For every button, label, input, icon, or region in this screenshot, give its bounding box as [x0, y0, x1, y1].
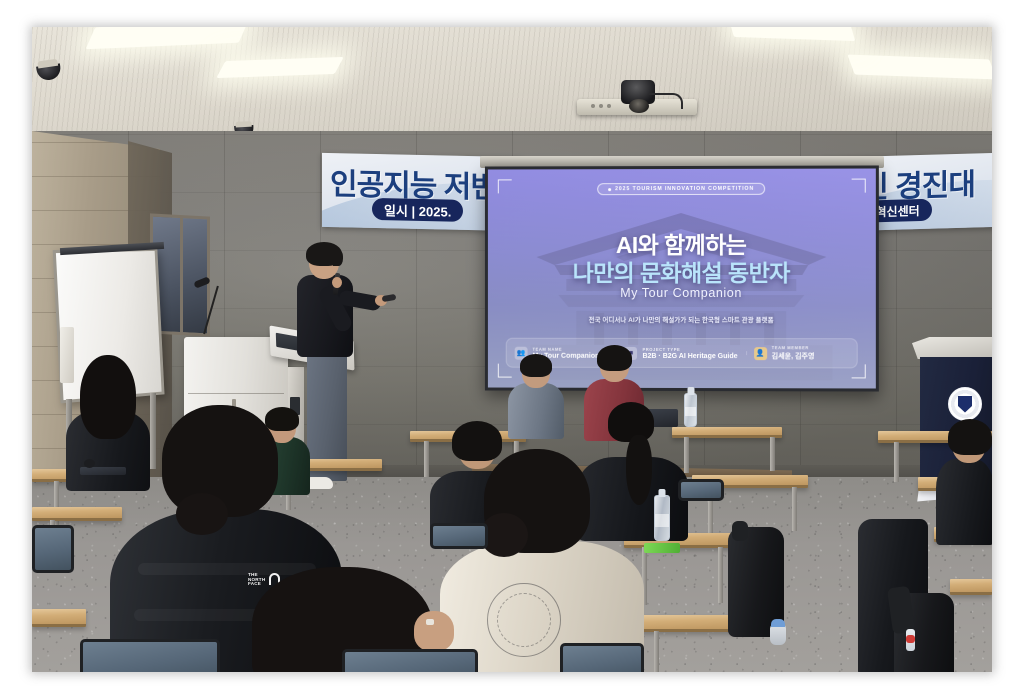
card-value: B2B · B2G AI Heritage Guide — [643, 352, 738, 359]
card-label: TEAM MEMBER — [772, 345, 815, 350]
presenter-hair — [306, 242, 342, 266]
podium-seam — [188, 393, 284, 394]
card-label: PROJECT TYPE — [643, 346, 738, 351]
desk — [32, 507, 122, 521]
badge-dot-icon — [608, 188, 611, 191]
bottle-charm-label — [906, 635, 915, 643]
ceiling-projector — [577, 79, 697, 115]
green-snack-pack — [644, 543, 680, 553]
chair[interactable] — [80, 639, 220, 672]
emblem-shield — [958, 396, 972, 413]
chair[interactable] — [32, 525, 74, 573]
podium-microphone — [192, 273, 236, 333]
attendee-hair — [452, 421, 502, 461]
projector-led — [599, 104, 603, 108]
desk — [950, 579, 992, 595]
computer-mouse[interactable] — [84, 459, 95, 468]
slide-card-team-member: 👤 TEAM MEMBER 김세윤, 김주영 — [746, 345, 857, 361]
presentation-slide: 2025 TOURISM INNOVATION COMPETITION AI와 … — [488, 169, 876, 389]
banner-left-date: 일시 | 2025. — [372, 198, 463, 222]
member-icon: 👤 — [754, 347, 767, 360]
projector-lens — [629, 99, 649, 113]
water-bottle — [654, 495, 670, 541]
projector-cable — [649, 93, 683, 109]
projector-led — [591, 104, 595, 108]
coat-print-graphic — [487, 583, 561, 657]
slide-tagline: 전국 어디서나 AI가 나만의 해설가가 되는 한국형 스마트 관광 플랫폼 — [488, 315, 876, 324]
backpack-handle — [732, 521, 748, 541]
desk-leg — [770, 437, 775, 471]
projector-led — [607, 104, 611, 108]
attendee-hair — [520, 354, 552, 377]
slide-corner-bracket — [852, 179, 866, 193]
ceiling — [32, 27, 992, 145]
hair-bun — [176, 493, 228, 535]
attendee-far-right — [936, 423, 992, 543]
attendee-hair — [608, 402, 654, 442]
chair[interactable] — [560, 643, 644, 672]
slide-corner-bracket — [498, 179, 512, 193]
desk-leg — [718, 547, 723, 603]
university-emblem-icon — [948, 387, 982, 421]
chair[interactable] — [678, 479, 724, 501]
photograph: 인공지능 저변 일시 | 2025. 디자인 경진대 학교 부산AI혁신센터 — [32, 27, 992, 672]
microphone-head — [193, 276, 210, 288]
chair[interactable] — [430, 523, 488, 549]
slide-title-line-2: 나만의 문화해설 동반자 — [488, 254, 876, 288]
photo-frame: 인공지능 저변 일시 | 2025. 디자인 경진대 학교 부산AI혁신센터 — [0, 0, 1024, 699]
podium-top-surface — [912, 337, 992, 359]
attendee-hair — [597, 345, 632, 371]
desk — [32, 609, 86, 627]
attendee-hand — [414, 611, 454, 651]
plush-charm-hat — [771, 619, 785, 627]
microphone-stem — [203, 286, 219, 335]
slide-badge-text: 2025 TOURISM INNOVATION COMPETITION — [615, 186, 754, 192]
bottle-label — [655, 514, 669, 526]
chair[interactable] — [342, 649, 478, 672]
desk-leg — [792, 487, 797, 531]
slide-subtitle-english: My Tour Companion — [488, 286, 876, 300]
desk-leg — [654, 631, 659, 672]
presenter-hand-with-mic — [332, 277, 342, 288]
card-value: 김세윤, 김주영 — [772, 351, 815, 361]
desk-leg — [894, 442, 899, 482]
desk-leg — [424, 441, 429, 477]
ring — [426, 619, 434, 625]
attendee-torso — [936, 459, 992, 545]
slide-badge: 2025 TOURISM INNOVATION COMPETITION — [597, 183, 765, 195]
attendee-hair — [948, 419, 992, 455]
